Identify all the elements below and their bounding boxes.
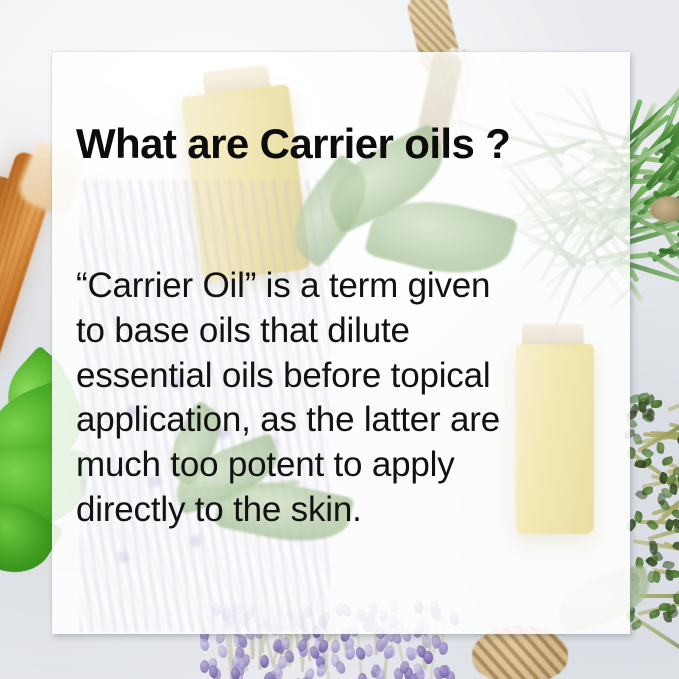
body-line: essential oils before topical (76, 354, 616, 399)
body-copy: “Carrier Oil” is a term given to base oi… (76, 264, 616, 533)
lavender-bud (423, 651, 432, 664)
content-card: What are Carrier oils ? “Carrier Oil” is… (52, 52, 630, 634)
body-line: application, as the latter are (76, 398, 616, 443)
lavender-bud (357, 672, 366, 679)
body-line: much too potent to apply (76, 443, 616, 488)
lavender-bud (386, 645, 395, 658)
lavender-bud (437, 642, 448, 656)
thyme-leaf (666, 609, 678, 618)
body-line: directly to the skin. (76, 488, 616, 533)
thyme-leaf (641, 447, 655, 460)
thyme-leaf (656, 442, 666, 454)
thyme-leaf (634, 459, 647, 470)
headline: What are Carrier oils ? (76, 122, 614, 166)
thyme-leaf (662, 559, 675, 570)
thyme-stem (668, 390, 679, 413)
lavender-bud (274, 667, 283, 679)
card-text-block: What are Carrier oils ? “Carrier Oil” is… (52, 52, 630, 634)
rosemary-stem-knot (650, 196, 679, 222)
lavender-bud (199, 637, 211, 652)
body-line: to base oils that dilute (76, 309, 616, 354)
body-line: “Carrier Oil” is a term given (76, 264, 616, 309)
lavender-bud (331, 640, 341, 654)
infographic-canvas: What are Carrier oils ? “Carrier Oil” is… (0, 0, 679, 679)
lavender-bud (260, 655, 269, 668)
lavender-bud (334, 660, 347, 675)
